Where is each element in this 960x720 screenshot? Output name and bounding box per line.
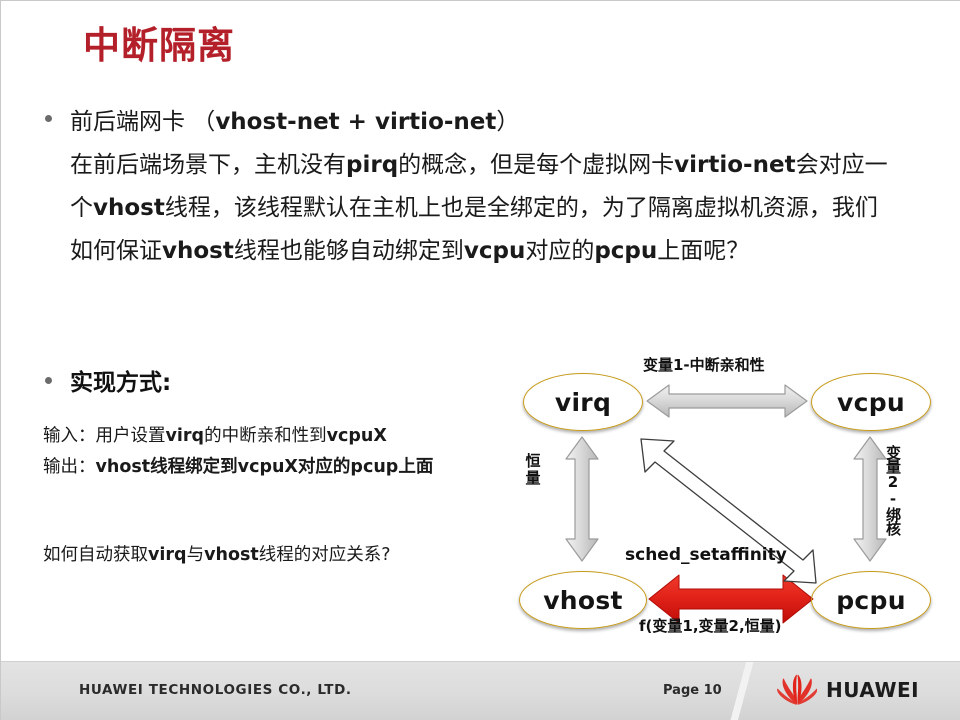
huawei-logo-text: HUAWEI [826,678,919,702]
bullet-block-2: 实现方式: 输入：用户设置virq的中断亲和性到vcpuX 输出：vhost线程… [41,363,521,483]
diagram-label-bottom: f(变量1,变量2,恒量) [639,615,782,636]
bullet-item-1: 前后端网卡 （vhost-net + virtio-net） [41,101,901,144]
arrow-vcpu-pcpu [854,437,886,561]
diagram-node-vcpu[interactable]: vcpu [811,373,931,431]
diagram-node-virq[interactable]: virq [523,373,643,431]
bullet-1-heading-bold: vhost-net + virtio-net [215,109,496,135]
io-lines: 输入：用户设置virq的中断亲和性到vcpuX 输出：vhost线程绑定到vcp… [43,421,521,483]
page-number: Page 10 [663,683,722,698]
diagram-node-vhost[interactable]: vhost [519,571,647,629]
huawei-flower-icon [777,674,817,706]
diagram-node-vcpu-label: vcpu [837,388,905,417]
input-line: 输入：用户设置virq的中断亲和性到vcpuX [43,421,521,452]
implementation-heading: 实现方式: [70,363,171,397]
bullet-1-heading: 前后端网卡 （vhost-net + virtio-net） [70,101,519,144]
page-title: 中断隔离 [83,15,235,69]
diagram-label-right: 变量2-绑核 [885,445,900,535]
bullet-1-heading-tail: ） [496,109,519,135]
slide-footer: HUAWEI TECHNOLOGIES CO., LTD. Page 10 HU… [1,661,960,720]
diagram-node-pcpu[interactable]: pcpu [811,571,931,629]
bullet-dot-icon [45,377,52,384]
bullet-1-heading-cn: 前后端网卡 （ [70,109,215,135]
diagram-node-pcpu-label: pcpu [836,586,906,615]
diagram-label-top: 变量1-中断亲和性 [643,354,765,375]
diagram-label-left: 恒量 [525,453,541,487]
slide-canvas: 中断隔离 前后端网卡 （vhost-net + virtio-net） 在前后端… [0,0,960,720]
arrow-virq-vhost [566,437,598,561]
bullet-dot-icon [45,115,52,122]
bullet-item-2: 实现方式: [41,363,521,397]
arrow-virq-vcpu [647,385,807,417]
bullet-block-1: 前后端网卡 （vhost-net + virtio-net） 在前后端场景下，主… [41,101,901,273]
diagram-node-virq-label: virq [555,388,611,417]
diagram-node-vhost-label: vhost [543,586,623,615]
output-line: 输出：vhost线程绑定到vcpuX对应的pcup上面 [43,452,521,483]
bullet-1-paragraph: 在前后端场景下，主机没有pirq的概念，但是每个虚拟网卡virtio-net会对… [70,144,896,273]
huawei-logo: HUAWEI [777,674,919,706]
diagram-label-diagonal: sched_setaffinity [625,545,787,565]
footer-company-text: HUAWEI TECHNOLOGIES CO., LTD. [79,682,352,698]
relationship-diagram: virq vcpu vhost pcpu 变量1-中断亲和性 恒量 变量2-绑核… [513,353,953,649]
footer-divider [719,662,765,720]
question-line: 如何自动获取virq与vhost线程的对应关系? [43,541,391,566]
